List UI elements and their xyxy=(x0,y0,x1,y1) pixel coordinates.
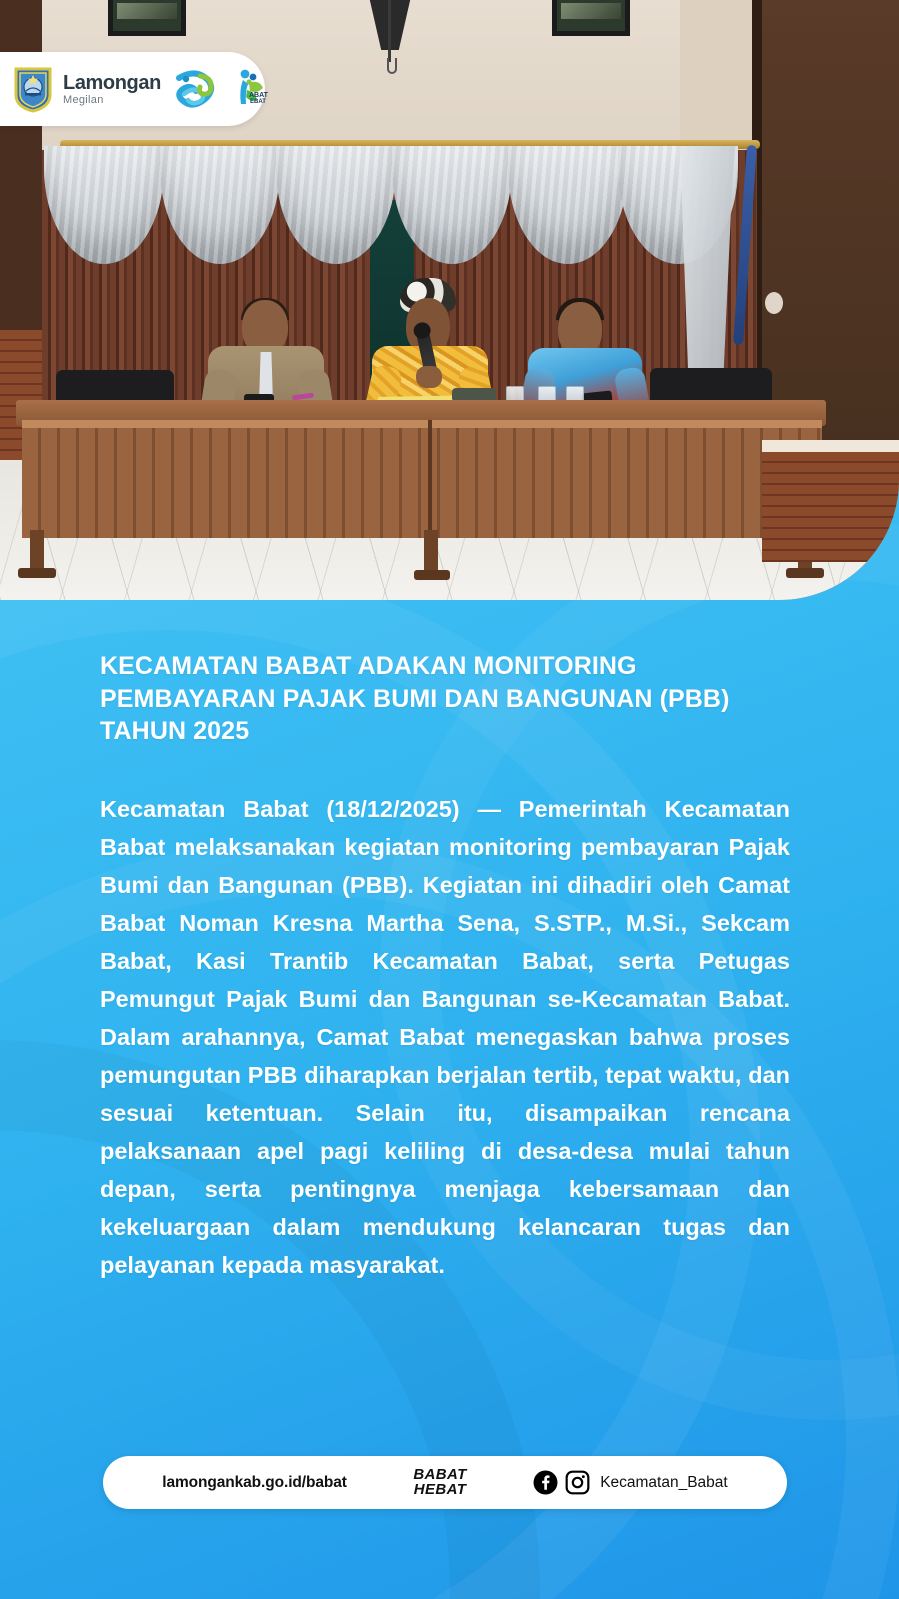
brand-tagline: Megilan xyxy=(63,95,161,106)
table-foot-middle xyxy=(414,570,450,580)
instagram-icon[interactable] xyxy=(565,1470,590,1495)
lamongan-regency-emblem xyxy=(12,65,54,113)
wall-left-column xyxy=(0,0,42,330)
social-links[interactable]: Kecamatan_Babat xyxy=(533,1470,728,1495)
page-title: KECAMATAN BABAT ADAKAN MONITORING PEMBAY… xyxy=(100,650,790,748)
facebook-icon[interactable] xyxy=(533,1470,558,1495)
social-handle[interactable]: Kecamatan_Babat xyxy=(600,1474,728,1492)
brand-name: Lamongan xyxy=(63,73,161,93)
article-content: KECAMATAN BABAT ADAKAN MONITORING PEMBAY… xyxy=(100,650,790,1284)
babat-hebat-line2: HEBAT xyxy=(413,1483,466,1497)
table-seam xyxy=(428,420,432,538)
svg-text:ABAT: ABAT xyxy=(249,92,269,99)
social-media-poster: Lamongan Megilan ABAT EBAT xyxy=(0,0,899,1599)
website-url[interactable]: lamongankab.go.id/babat xyxy=(162,1474,347,1492)
lamp-rod xyxy=(388,0,391,62)
wall-right-column xyxy=(752,0,899,460)
footer-bar: lamongankab.go.id/babat BABAT HEBAT Keca… xyxy=(103,1456,787,1509)
babat-hebat-wordmark: BABAT HEBAT xyxy=(413,1468,466,1497)
svg-text:EBAT: EBAT xyxy=(250,99,266,105)
babat-hebat-logo: ABAT EBAT xyxy=(225,66,271,112)
brand-logo-bar: Lamongan Megilan ABAT EBAT xyxy=(0,52,265,126)
lamongan-megilan-wave-logo xyxy=(170,66,216,112)
hand-holding-mic xyxy=(416,366,442,388)
lamp-hook xyxy=(387,58,397,74)
brand-wordmark: Lamongan Megilan xyxy=(63,73,161,106)
brick-wall-right xyxy=(762,452,899,562)
wall-portrait-right xyxy=(552,0,630,36)
table-edge xyxy=(22,420,822,428)
table-front-panel xyxy=(22,420,822,538)
wall-portrait-left xyxy=(108,0,186,36)
wall-mark xyxy=(765,292,783,314)
table-foot-left xyxy=(18,568,56,578)
article-body: Kecamatan Babat (18/12/2025) — Pemerinta… xyxy=(100,790,790,1285)
table-foot-right xyxy=(786,568,824,578)
